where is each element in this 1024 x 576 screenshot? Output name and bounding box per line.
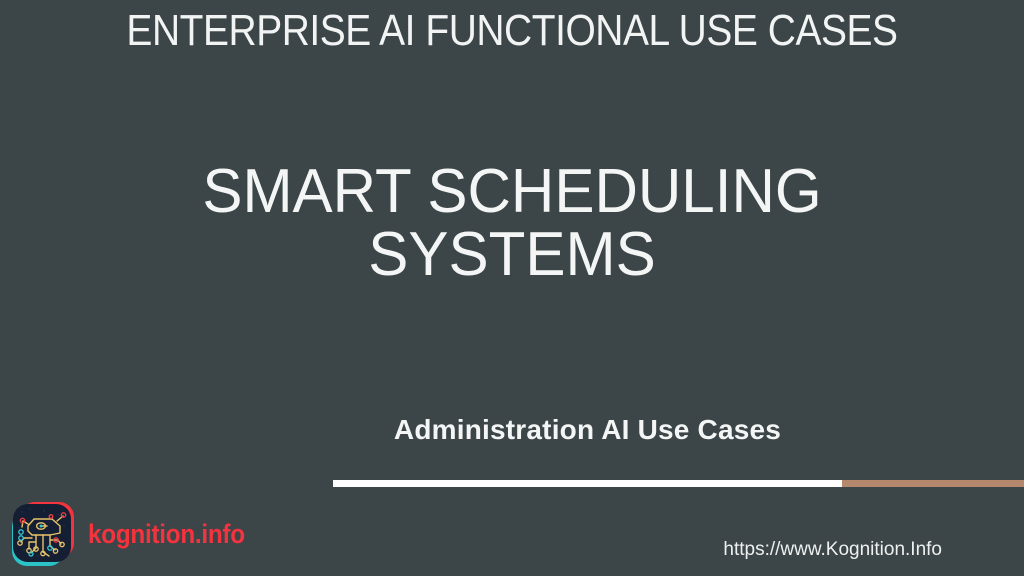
divider-segment-white xyxy=(333,480,842,487)
page-title-line-2: SYSTEMS xyxy=(15,223,1008,286)
page-subtitle: Administration AI Use Cases xyxy=(333,414,842,446)
title-slide: ENTERPRISE AI FUNCTIONAL USE CASES SMART… xyxy=(0,0,1024,576)
brand-logo-lockup[interactable]: kognition.info xyxy=(10,500,262,568)
circuit-brain-icon xyxy=(10,502,76,566)
page-title: SMART SCHEDULING SYSTEMS xyxy=(15,160,1008,286)
page-title-line-1: SMART SCHEDULING xyxy=(15,160,1008,223)
divider-segment-accent xyxy=(842,480,1024,487)
divider xyxy=(333,480,1024,487)
brand-wordmark: kognition.info xyxy=(88,519,245,550)
footer-url[interactable]: https://www.Kognition.Info xyxy=(723,539,942,561)
header-eyebrow-title: ENTERPRISE AI FUNCTIONAL USE CASES xyxy=(59,8,965,54)
